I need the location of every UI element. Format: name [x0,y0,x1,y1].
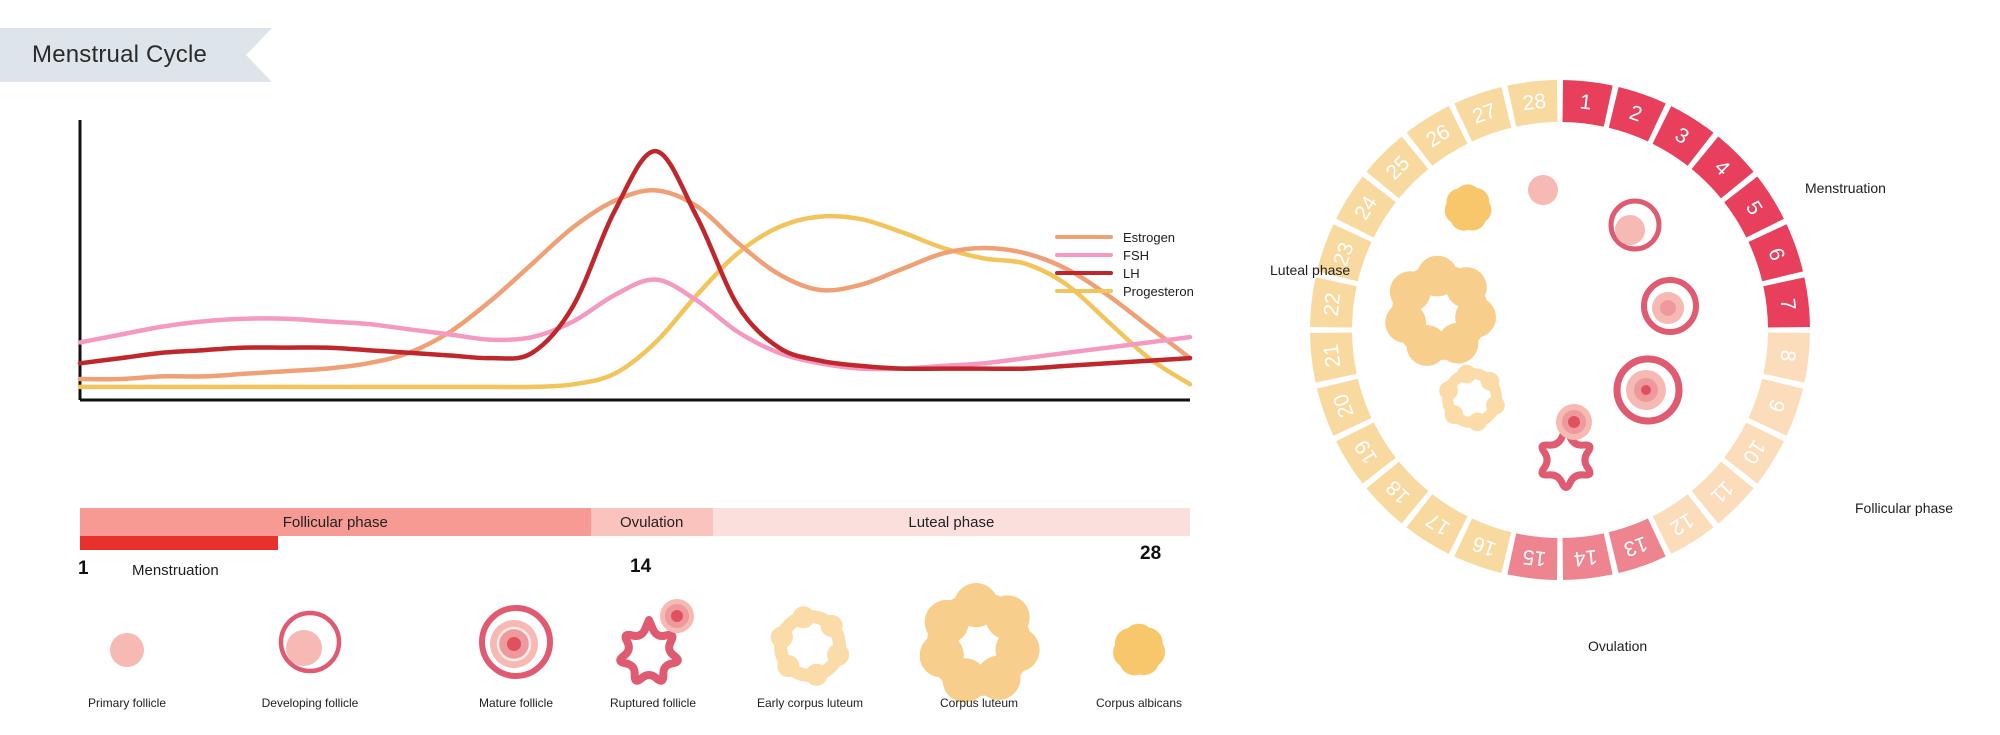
stage-ruptured-ovum-core [671,610,683,622]
chart-curves [80,151,1190,387]
cycle-wheel-svg: 1234567891011121314151617181920212223242… [1270,40,2000,690]
legend-label-lh: LH [1123,266,1140,281]
stage-caption: Mature follicle [479,696,553,710]
legend-item: FSH [1055,246,1194,264]
stage-caption: Primary follicle [88,696,166,710]
phase-label-ovulation: Ovulation [620,514,683,531]
legend-label-estrogen: Estrogen [1123,230,1175,245]
axis-tick-day-28: 28 [1140,543,1161,565]
page-title: Menstrual Cycle [32,41,207,69]
stage-early-corpus-luteum [771,606,849,686]
curve-fsh [80,279,1190,369]
curve-progesteron [80,216,1190,387]
legend-item: Progesteron [1055,282,1194,300]
legend-item: LH [1055,264,1194,282]
stage-mature-follicle-nucleus [507,637,521,651]
follicle-stage-row: Primary follicleDeveloping follicleMatur… [0,580,1250,730]
stage-developing-follicle-core [286,630,322,666]
legend-swatch-fsh [1055,253,1113,257]
wheel-day-number: 28 [1521,90,1547,115]
phase-segment-luteal: Luteal phase [713,508,1190,536]
phase-segment-follicular: Follicular phase [80,508,591,536]
stage-caption: Corpus luteum [940,696,1018,710]
chart-legend: Estrogen FSH LH Progesteron [1055,228,1194,300]
stage-primary-follicle [110,633,144,667]
phase-label-luteal: Luteal phase [908,514,994,531]
legend-swatch-estrogen [1055,235,1113,239]
wheel-maturing-follicle-core [1660,300,1676,316]
stage-caption: Corpus albicans [1096,696,1182,710]
title-banner: Menstrual Cycle [0,28,272,82]
phase-label-follicular: Follicular phase [283,514,388,531]
axis-tick-day-14: 14 [630,556,651,578]
curve-lh [80,151,1190,369]
stage-caption: Developing follicle [262,696,359,710]
legend-swatch-lh [1055,271,1113,275]
stage-caption: Ruptured follicle [610,696,696,710]
wheel-corpus-luteum [1385,256,1496,366]
wheel-label-ovulation: Ovulation [1588,638,1647,654]
wheel-day-number: 21 [1320,343,1345,369]
legend-label-progesteron: Progesteron [1123,284,1194,299]
wheel-early-corpus-luteum [1439,365,1505,431]
wheel-day-number: 14 [1572,545,1598,571]
wheel-mature-follicle-nucleus [1641,385,1651,395]
legend-label-fsh: FSH [1123,248,1149,263]
wheel-corpus-albicans [1445,184,1492,230]
menstruation-bar [80,536,278,550]
wheel-day-number: 22 [1320,291,1345,317]
menstruation-label: Menstruation [132,562,219,579]
cycle-wheel-panel: 1234567891011121314151617181920212223242… [1270,40,2000,690]
wheel-label-menstruation: Menstruation [1805,180,1886,196]
stage-corpus-luteum [920,583,1040,702]
wheel-day-number: 15 [1521,545,1547,570]
wheel-primary-follicle [1528,175,1558,205]
wheel-label-luteal: Luteal phase [1270,262,1350,278]
stage-corpus-albicans [1113,624,1165,676]
axis-tick-day-1: 1 [78,558,89,580]
phase-segment-ovulation: Ovulation [591,508,713,536]
wheel-developing-follicle-core [1615,215,1645,245]
phase-bar: Follicular phase Ovulation Luteal phase [80,508,1190,536]
legend-swatch-progesteron [1055,289,1113,293]
hormone-chart-panel: Estrogen FSH LH Progesteron Follicular p… [0,100,1250,660]
stage-caption: Early corpus luteum [757,696,863,710]
wheel-ovum-core [1568,416,1580,428]
wheel-label-follicular: Follicular phase [1855,500,1953,516]
legend-item: Estrogen [1055,228,1194,246]
